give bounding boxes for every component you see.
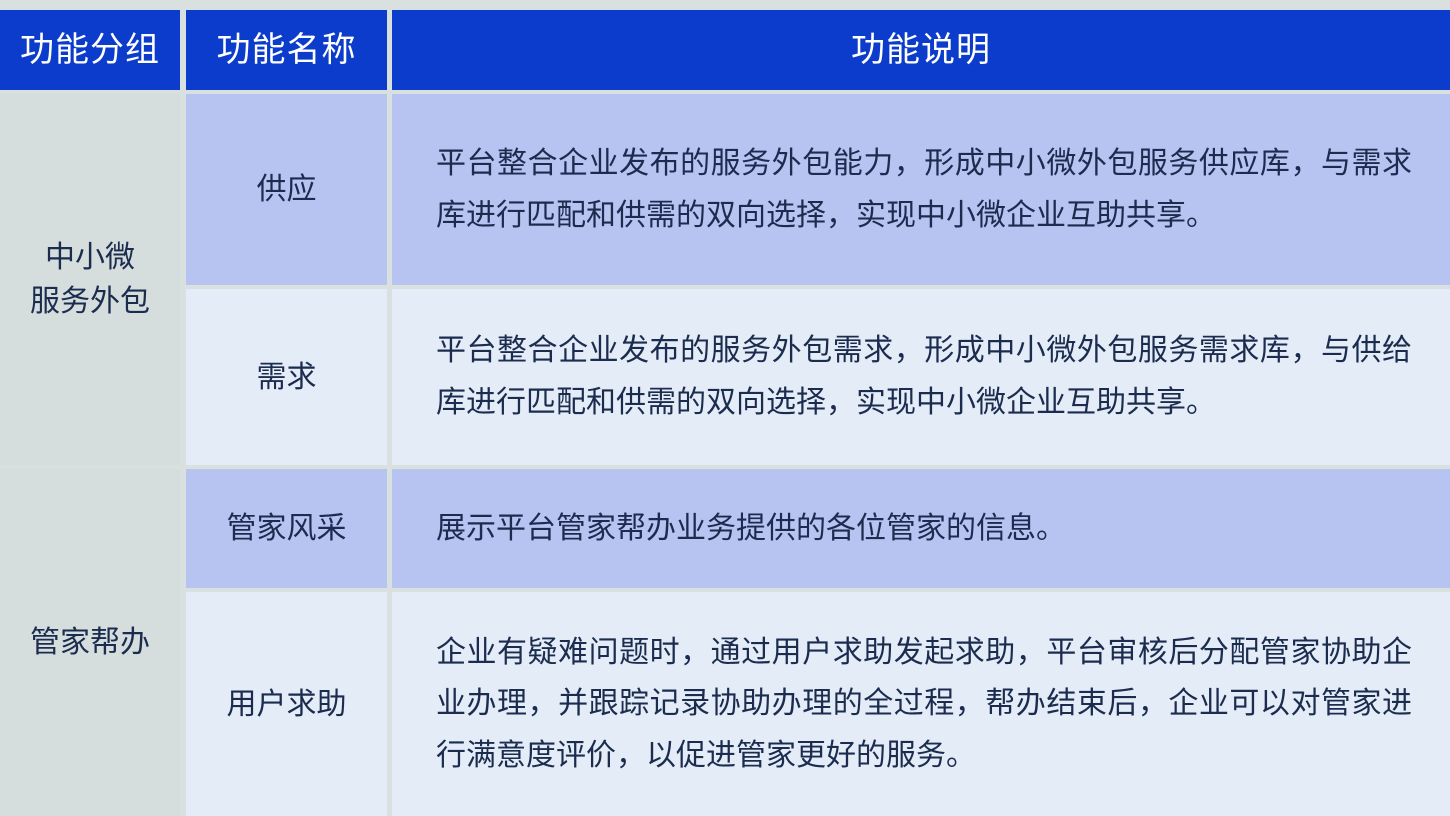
function-description-text: 展示平台管家帮办业务提供的各位管家的信息。 bbox=[436, 503, 1412, 555]
group-cell-zhongxiaowei: 中小微 服务外包 bbox=[0, 94, 180, 465]
function-description-cell: 企业有疑难问题时，通过用户求助发起求助，平台审核后分配管家协助企业办理，并跟踪记… bbox=[392, 592, 1450, 816]
function-name-cell: 供应 bbox=[186, 94, 387, 285]
feature-table: 功能分组 功能名称 功能说明 中小微 服务外包 管家帮办 供应 平台整合企业发布… bbox=[0, 0, 1450, 816]
group-label-line-1: 中小微 bbox=[30, 236, 150, 280]
function-description-cell: 展示平台管家帮办业务提供的各位管家的信息。 bbox=[392, 469, 1450, 588]
function-description-text: 企业有疑难问题时，通过用户求助发起求助，平台审核后分配管家协助企业办理，并跟踪记… bbox=[436, 627, 1412, 782]
function-description-cell: 平台整合企业发布的服务外包能力，形成中小微外包服务供应库，与需求库进行匹配和供需… bbox=[392, 94, 1450, 285]
column-header-group: 功能分组 bbox=[0, 10, 180, 90]
function-name-cell: 管家风采 bbox=[186, 469, 387, 588]
function-name-cell: 用户求助 bbox=[186, 592, 387, 816]
column-header-description: 功能说明 bbox=[392, 10, 1450, 90]
function-description-text: 平台整合企业发布的服务外包需求，形成中小微外包服务需求库，与供给库进行匹配和供需… bbox=[436, 325, 1412, 428]
group-label-line-2: 服务外包 bbox=[30, 280, 150, 324]
function-name-cell: 需求 bbox=[186, 289, 387, 465]
group-cell-guanjiabangban: 管家帮办 bbox=[0, 469, 180, 816]
group-label-line-1: 管家帮办 bbox=[30, 621, 150, 665]
function-description-cell: 平台整合企业发布的服务外包需求，形成中小微外包服务需求库，与供给库进行匹配和供需… bbox=[392, 289, 1450, 465]
function-description-text: 平台整合企业发布的服务外包能力，形成中小微外包服务供应库，与需求库进行匹配和供需… bbox=[436, 138, 1412, 241]
column-header-name: 功能名称 bbox=[186, 10, 387, 90]
